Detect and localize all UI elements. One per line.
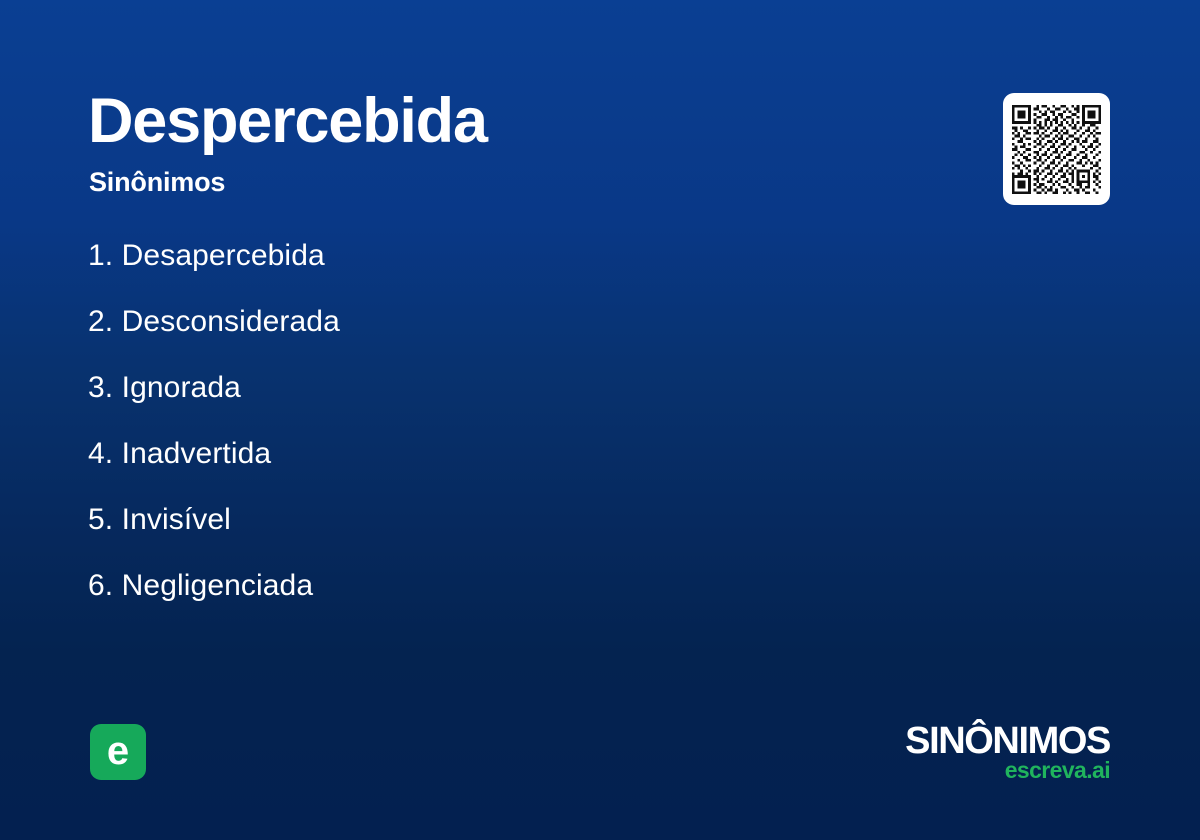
synonyms-list: 1. Desapercebida 2. Desconsiderada 3. Ig…	[88, 238, 848, 634]
sinonimos-logo[interactable]: SINÔNIMOS escreva.ai	[905, 722, 1110, 782]
list-item-number: 2.	[88, 305, 113, 338]
list-item-number: 1.	[88, 239, 113, 272]
list-item: 2. Desconsiderada	[88, 304, 848, 370]
page-subtitle: Sinônimos	[89, 168, 225, 198]
list-item: 5. Invisível	[88, 502, 848, 568]
list-item-word: Desapercebida	[122, 239, 325, 272]
list-item-number: 4.	[88, 437, 113, 470]
list-item-number: 6.	[88, 569, 113, 602]
logo-wordmark: SINÔNIMOS	[905, 722, 1110, 760]
list-item-number: 5.	[88, 503, 113, 536]
page-title: Despercebida	[88, 88, 487, 154]
list-item-word: Negligenciada	[122, 569, 313, 602]
list-item: 3. Ignorada	[88, 370, 848, 436]
synonyms-card: Despercebida Sinônimos 1. Desapercebida …	[0, 0, 1200, 840]
list-item: 4. Inadvertida	[88, 436, 848, 502]
list-item-word: Invisível	[122, 503, 231, 536]
list-item-word: Ignorada	[122, 371, 241, 404]
badge-letter: e	[107, 731, 129, 771]
list-item-word: Desconsiderada	[122, 305, 340, 338]
list-item-number: 3.	[88, 371, 113, 404]
list-item-word: Inadvertida	[122, 437, 272, 470]
qr-code-icon	[1012, 105, 1101, 194]
list-item: 6. Negligenciada	[88, 568, 848, 634]
escreva-badge-icon[interactable]: e	[90, 724, 146, 780]
qr-code-panel[interactable]	[1003, 93, 1110, 205]
list-item: 1. Desapercebida	[88, 238, 848, 304]
